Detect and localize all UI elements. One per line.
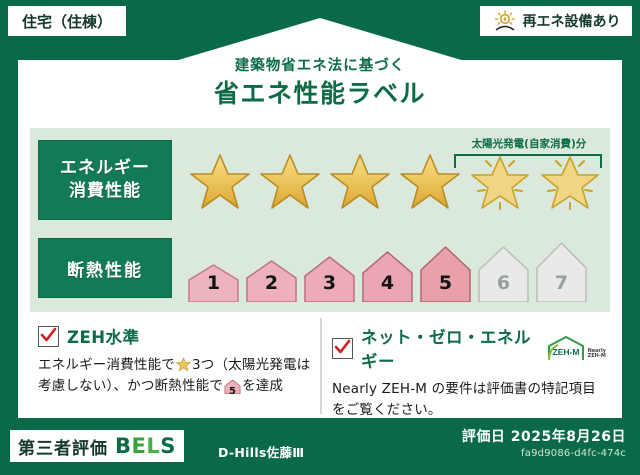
insulation-level-number: 2 (244, 272, 299, 294)
renewable-equipment-chip: 再エネ設備あり (480, 6, 632, 36)
insulation-level-6: 6 (476, 244, 531, 302)
bels-letter-b: B (115, 434, 132, 458)
star-filled (396, 140, 464, 224)
star-solar (536, 140, 604, 224)
insulation-performance-row: 断熱性能 1 2 (30, 236, 610, 304)
evaluation-info: 評価日 2025年8月26日 fa9d9086-d4fc-474c (462, 426, 626, 459)
label-footer: 第三者評価 BELS D-Hills佐藤Ⅲ 評価日 2025年8月26日 fa9… (0, 418, 640, 475)
title-main: 省エネ性能ラベル (0, 80, 640, 109)
netzero-checkbox (332, 338, 353, 359)
building-name: D-Hills佐藤Ⅲ (218, 442, 304, 461)
star-solar (466, 140, 534, 224)
sun-icon (492, 10, 518, 32)
insulation-level-number: 7 (534, 272, 589, 294)
building-type-chip: 住宅（住棟） (8, 6, 126, 36)
insulation-level-3: 3 (302, 254, 357, 302)
label-title-block: 建築物省エネ法に基づく 省エネ性能ラベル (0, 58, 640, 109)
star-filled (326, 140, 394, 224)
insulation-level-5: 5 (418, 244, 473, 302)
star-filled (186, 140, 254, 224)
criteria-columns: ZEH水準 エネルギー消費性能で3つ（太陽光発電は考慮しない）、かつ断熱性能で5… (30, 318, 610, 414)
insulation-level-scale: 1 2 3 4 (186, 236, 610, 302)
energy-category-line2: 消費性能 (69, 180, 141, 203)
zeh-m-logo-sub2: ZEH-M (588, 354, 606, 359)
insulation-level-number: 6 (476, 272, 531, 294)
house-level-number: 5 (224, 384, 241, 400)
evaluation-date-row: 評価日 2025年8月26日 (462, 426, 626, 446)
zeh-m-logo: ZEH-M Nearly ZEH-M (546, 335, 606, 362)
energy-category-line1: エネルギー (60, 157, 150, 180)
zeh-description: エネルギー消費性能で3つ（太陽光発電は考慮しない）、かつ断熱性能で5を達成 (38, 355, 312, 401)
energy-label-root: 住宅（住棟） 再エネ設備あり 建築物省エネ法に基づく 省エネ性能ラベル (0, 0, 640, 475)
check-icon (334, 339, 351, 356)
solar-bracket (454, 154, 602, 168)
performance-panel: エネルギー 消費性能 太陽光発電(自家消費)分 (30, 128, 610, 312)
evaluation-date-value: 2025年8月26日 (511, 429, 626, 445)
house-level-icon: 5 (224, 379, 241, 401)
zeh-m-house-icon: ZEH-M (546, 335, 586, 362)
third-party-evaluation-box: 第三者評価 BELS (10, 430, 184, 462)
bels-letter-e: E (132, 434, 147, 458)
zeh-checkbox (38, 326, 59, 347)
zeh-heading: ZEH水準 (67, 324, 140, 348)
bels-letter-l: L (146, 434, 160, 458)
evaluation-date-label: 評価日 (462, 429, 506, 445)
zeh-standard-block: ZEH水準 エネルギー消費性能で3つ（太陽光発電は考慮しない）、かつ断熱性能で5… (30, 318, 320, 414)
energy-category-box: エネルギー 消費性能 (38, 140, 172, 220)
netzero-heading: ネット・ゼロ・エネルギー (361, 324, 534, 372)
zeh-description-part1: エネルギー消費性能で (38, 357, 175, 373)
zeh-heading-row: ZEH水準 (38, 324, 312, 348)
title-subtitle: 建築物省エネ法に基づく (0, 58, 640, 75)
bels-wordmark: BELS (115, 434, 176, 458)
star-icon (176, 357, 191, 372)
zeh-description-part3: を達成 (242, 378, 283, 394)
insulation-category-label: 断熱性能 (67, 256, 143, 281)
netzero-heading-row: ネット・ゼロ・エネルギー ZEH-M Nearly ZEH-M (332, 324, 606, 372)
insulation-level-1: 1 (186, 262, 241, 302)
insulation-category-box: 断熱性能 (38, 238, 172, 298)
insulation-level-number: 5 (418, 272, 473, 294)
evaluation-id: fa9d9086-d4fc-474c (462, 448, 626, 459)
netzero-description: Nearly ZEH-M の要件は評価書の特記項目をご覧ください。 (332, 379, 606, 421)
renewable-equipment-label: 再エネ設備あり (523, 11, 621, 31)
insulation-level-number: 1 (186, 272, 241, 294)
energy-performance-row: エネルギー 消費性能 太陽光発電(自家消費)分 (30, 136, 610, 228)
check-icon (40, 327, 57, 344)
insulation-level-2: 2 (244, 258, 299, 302)
third-party-label: 第三者評価 (18, 434, 108, 459)
net-zero-energy-block: ネット・ゼロ・エネルギー ZEH-M Nearly ZEH-M Nearly Z… (320, 318, 610, 414)
insulation-level-4: 4 (360, 249, 415, 302)
bels-letter-s: S (160, 434, 176, 458)
building-type-label: 住宅（住棟） (22, 11, 112, 32)
svg-text:ZEH-M: ZEH-M (552, 347, 579, 357)
insulation-level-number: 4 (360, 272, 415, 294)
insulation-level-7: 7 (534, 240, 589, 302)
energy-star-rating (186, 138, 606, 226)
star-filled (256, 140, 324, 224)
insulation-level-number: 3 (302, 272, 357, 294)
solar-note-label: 太陽光発電(自家消費)分 (436, 136, 622, 151)
